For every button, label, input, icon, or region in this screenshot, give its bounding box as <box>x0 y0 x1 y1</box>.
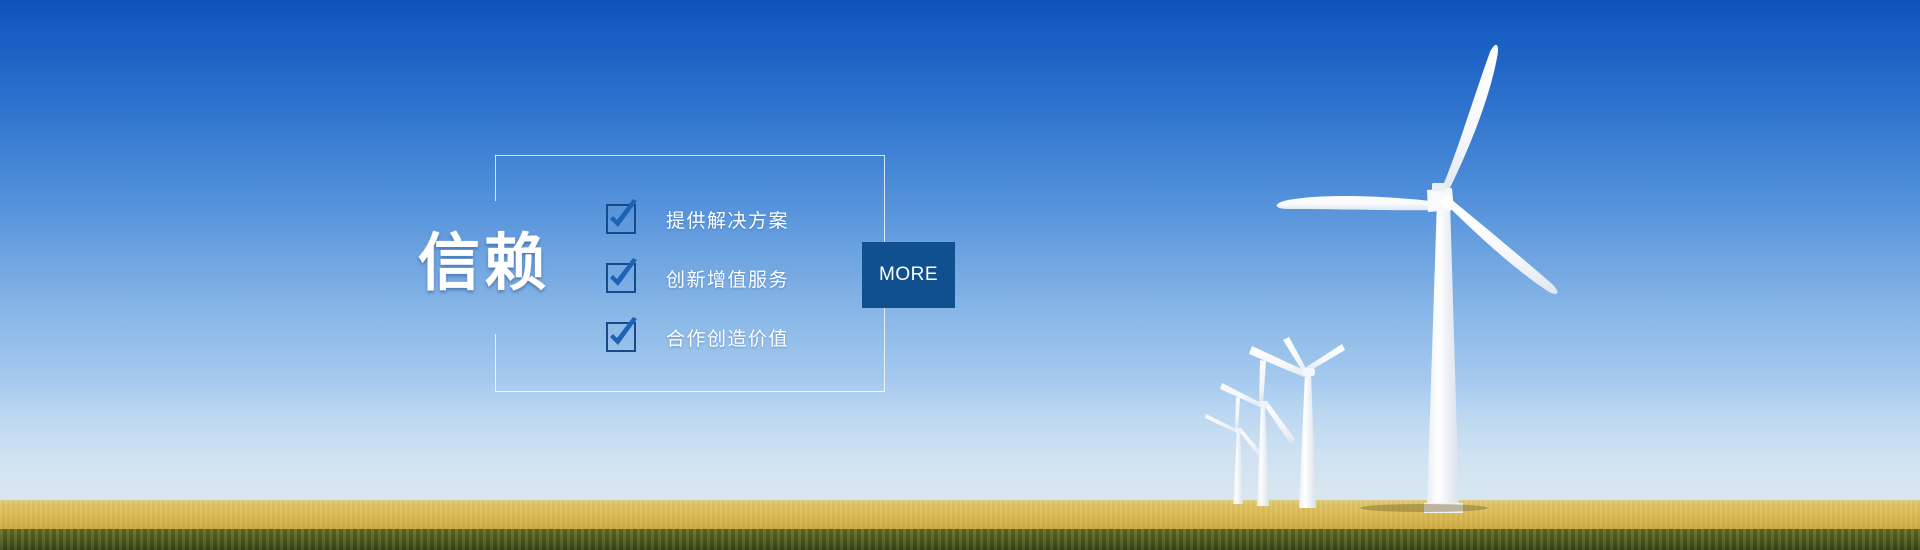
list-item[interactable]: 创新增值服务 <box>606 255 789 301</box>
list-item-label: 创新增值服务 <box>666 265 789 292</box>
checkmark-glyph <box>607 258 641 296</box>
turbine-small <box>1220 360 1295 506</box>
feature-checklist: 提供解决方案 创新增值服务 合作创造价值 <box>606 196 789 360</box>
list-item[interactable]: 合作创造价值 <box>606 314 789 360</box>
checkbox-checked-icon[interactable] <box>606 322 636 352</box>
frame-line-bottom <box>495 391 885 392</box>
frame-line-left-lower <box>495 334 496 392</box>
more-button[interactable]: MORE <box>862 242 955 308</box>
turbine-main <box>1277 45 1558 513</box>
turbine-far <box>1205 397 1262 504</box>
hero-banner: 信赖 提供解决方案 创新增值服务 <box>0 0 1920 550</box>
checkmark-glyph <box>607 317 641 355</box>
turbine-ground-shadow <box>1360 504 1488 512</box>
page-title: 信赖 <box>418 232 550 294</box>
banner-content: 信赖 提供解决方案 创新增值服务 <box>0 0 1100 550</box>
list-item-label: 合作创造价值 <box>666 324 789 351</box>
checkbox-checked-icon[interactable] <box>606 204 636 234</box>
checkmark-glyph <box>607 199 641 237</box>
checkbox-checked-icon[interactable] <box>606 263 636 293</box>
list-item[interactable]: 提供解决方案 <box>606 196 789 242</box>
frame-line-top <box>495 155 885 156</box>
list-item-label: 提供解决方案 <box>666 206 789 233</box>
frame-line-left-upper <box>495 155 496 201</box>
